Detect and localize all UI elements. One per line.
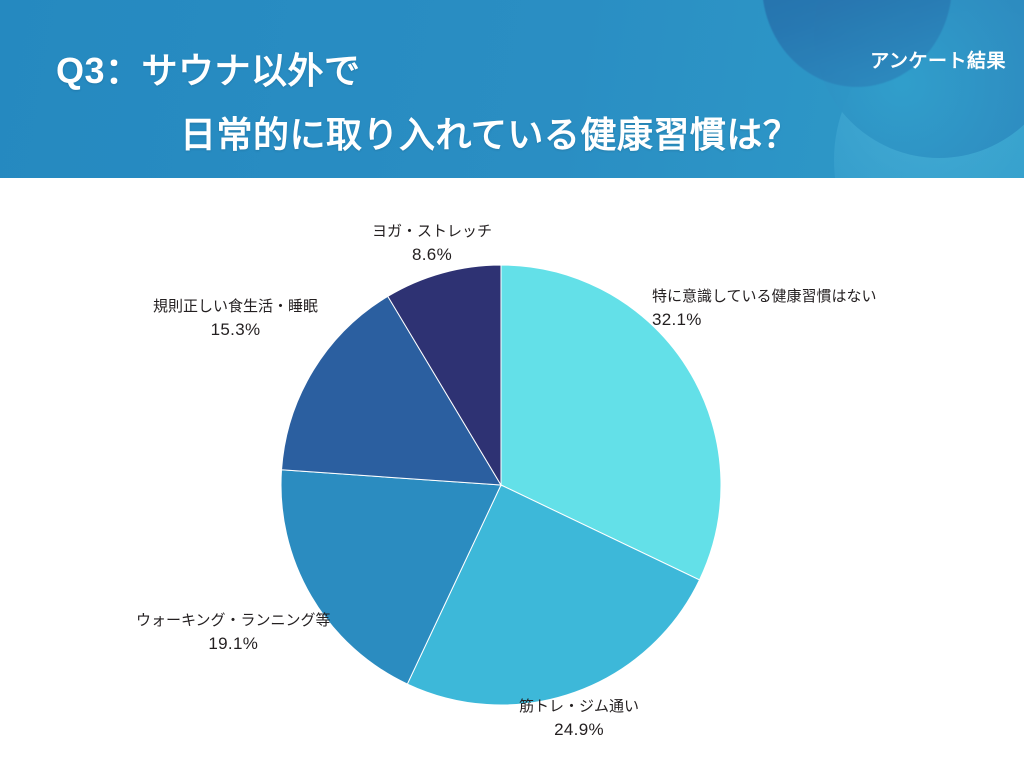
header-banner: Q3：サウナ以外で 日常的に取り入れている健康習慣は？ アンケート結果 [0, 0, 1024, 180]
title-block: Q3：サウナ以外で 日常的に取り入れている健康習慣は？ アンケート結果 [0, 0, 1024, 180]
pie-label-3-value: 15.3% [153, 318, 318, 343]
pie-label-0-text: 特に意識している健康習慣はない [652, 288, 877, 305]
pie-label-2-text: ウォーキング・ランニング等 [136, 612, 331, 629]
slide-root: Q3：サウナ以外で 日常的に取り入れている健康習慣は？ アンケート結果 特に意識… [0, 0, 1024, 768]
pie-label-2-value: 19.1% [136, 632, 331, 657]
pie-label-3-text: 規則正しい食生活・睡眠 [153, 298, 318, 315]
pie-label-4-value: 8.6% [372, 243, 492, 268]
chart-area: 特に意識している健康習慣はない 32.1% 筋トレ・ジム通い 24.9% ウォー… [0, 180, 1024, 768]
pie-label-4: ヨガ・ストレッチ 8.6% [372, 221, 492, 267]
pie-label-0-value: 32.1% [652, 308, 877, 333]
pie-label-1-text: 筋トレ・ジム通い [519, 698, 639, 715]
page-title-line-2: 日常的に取り入れている健康習慣は？ [180, 106, 799, 158]
pie-label-1-value: 24.9% [519, 718, 639, 743]
pie-label-1: 筋トレ・ジム通い 24.9% [519, 696, 639, 742]
header-badge-label: アンケート結果 [870, 46, 1006, 73]
pie-label-0: 特に意識している健康習慣はない 32.1% [652, 286, 877, 332]
pie-label-4-text: ヨガ・ストレッチ [372, 223, 492, 240]
page-title-line-1: Q3：サウナ以外で [56, 42, 361, 94]
pie-label-3: 規則正しい食生活・睡眠 15.3% [153, 296, 318, 342]
pie-label-2: ウォーキング・ランニング等 19.1% [136, 610, 331, 656]
